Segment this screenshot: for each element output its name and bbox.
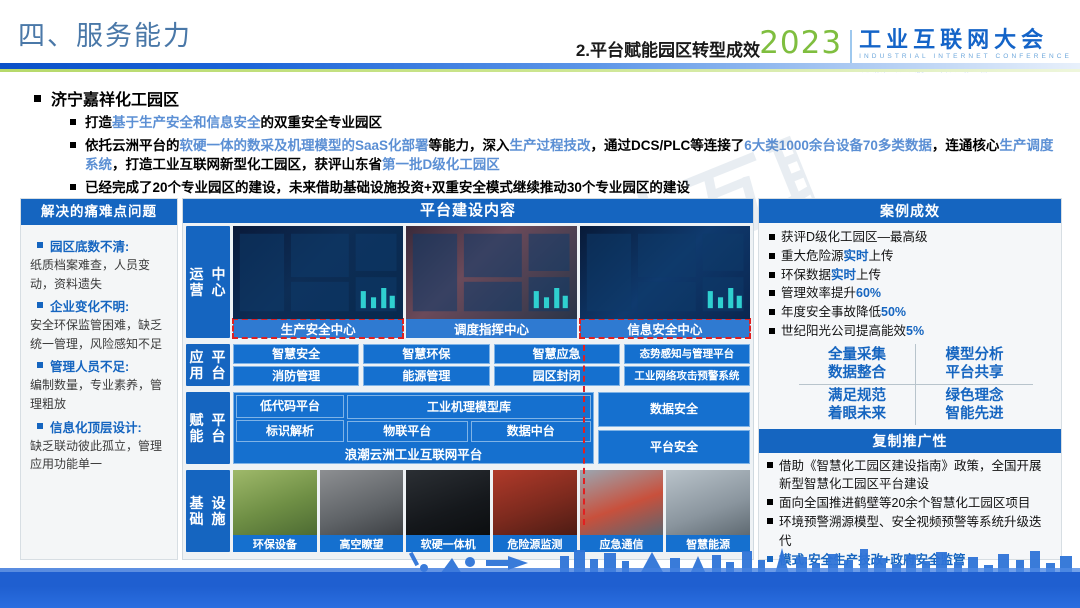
case-effect-text: 世纪阳光公司提高能效5%: [781, 322, 924, 341]
infrastructure-photo: [320, 470, 404, 535]
bullet-fragment: 基于生产安全和信息安全: [112, 115, 261, 130]
enablement-cell[interactable]: 低代码平台: [236, 395, 344, 418]
case-effect-fragment: 年度安全事故降低: [781, 305, 881, 319]
case-effect-fragment: 上传: [869, 249, 894, 263]
operation-center-photo: [233, 226, 403, 319]
pain-point-body: 缺乏联动彼此孤立，管理应用功能单一: [30, 437, 168, 474]
pain-point-heading: 企业变化不明:: [30, 296, 168, 315]
bullet-block: 济宁嘉祥化工园区 打造基于生产安全和信息安全的双重安全专业园区 依托云洲平台的软…: [34, 86, 1064, 197]
case-effect-item: 获评D级化工园区—最高级: [769, 228, 1053, 247]
keyword-line: 满足规范: [799, 387, 915, 405]
row-label-line: 平台: [208, 349, 230, 381]
infrastructure-row: 基础设施 环保设备高空瞭望软硬一体机危险源监测应急通信智慧能源: [183, 467, 753, 555]
enablement-left-box: 低代码平台 标识解析 工业机理模型库 物联平台 数据中台 浪潮云洲工业互联网平台: [233, 392, 594, 464]
enablement-cell[interactable]: 数据中台: [471, 421, 592, 443]
infrastructure-card[interactable]: 智慧能源: [666, 470, 750, 552]
pain-point-heading-text: 企业变化不明:: [50, 296, 129, 315]
case-effect-text: 重大危险源实时上传: [781, 247, 894, 266]
bullet-square-icon: [769, 272, 775, 278]
enablement-bottom-bar: 浪潮云洲工业互联网平台: [234, 444, 593, 463]
bullet-level2: 已经完成了20个专业园区的建设，未来借助基础设施投资+双重安全模式继续推动30个…: [70, 178, 1064, 198]
bullet-square-icon: [70, 119, 76, 125]
enablement-cell[interactable]: 标识解析: [236, 420, 344, 443]
page-subtitle: 2.平台赋能园区转型成效: [576, 36, 760, 61]
case-effect-fragment: 重大危险源: [781, 249, 844, 263]
operation-center-caption: 信息安全中心: [580, 319, 750, 338]
case-effect-list: 获评D级化工园区—最高级重大危险源实时上传环保数据实时上传管理效率提升60%年度…: [759, 223, 1061, 341]
application-platform-label: 应用平台: [186, 344, 230, 386]
case-effect-fragment: 50%: [881, 305, 906, 319]
infrastructure-card[interactable]: 高空瞭望: [320, 470, 404, 552]
case-effect-fragment: 获评D级化工园区—最高级: [781, 230, 928, 244]
case-effect-text: 获评D级化工园区—最高级: [781, 228, 928, 247]
bullet-fragment: 依托云洲平台的: [85, 138, 180, 153]
slide-root: 四、服务能力 2.平台赋能园区转型成效 2023 中国·苏州 8月14日-16日…: [0, 0, 1080, 608]
bullet-level2-text: 已经完成了20个专业园区的建设，未来借助基础设施投资+双重安全模式继续推动30个…: [85, 178, 690, 198]
pain-point-body: 纸质档案难查，人员变动，资料遗失: [30, 256, 168, 293]
enablement-cell-platform-security[interactable]: 平台安全: [598, 430, 750, 465]
enablement-top-row: 低代码平台 标识解析 工业机理模型库 物联平台 数据中台: [234, 393, 593, 444]
keyword-cell: 绿色理念智能先进: [916, 385, 1033, 425]
case-effect-fragment: 环保数据: [781, 268, 831, 282]
bullet-level2-text: 依托云洲平台的软硬一体的数采及机理模型的SaaS化部署等能力，深入生产过程技改，…: [85, 136, 1064, 175]
promotion-item: 借助《智慧化工园区建设指南》政策，全国开展新型智慧化工园区平台建设: [767, 457, 1053, 493]
infrastructure-card[interactable]: 应急通信: [580, 470, 664, 552]
case-effect-fragment: 60%: [856, 286, 881, 300]
enablement-platform-wrap: 低代码平台 标识解析 工业机理模型库 物联平台 数据中台 浪潮云洲工业互联网平台: [233, 392, 750, 464]
bullet-level1: 济宁嘉祥化工园区: [34, 86, 1064, 110]
bullet-square-icon: [70, 142, 76, 148]
bullet-fragment: 6大类1000余台设备70多类数据: [744, 138, 932, 153]
footer-band: [0, 572, 1080, 608]
infrastructure-cards: 环保设备高空瞭望软硬一体机危险源监测应急通信智慧能源: [233, 470, 750, 552]
bullet-fragment: ，通过DCS/PLC等连接了: [591, 138, 745, 153]
promotion-item: 面向全国推进鹤壁等20余个智慧化工园区项目: [767, 494, 1053, 512]
operation-center-photo: [580, 226, 750, 319]
enablement-cell-model-library[interactable]: 工业机理模型库: [347, 395, 591, 419]
keyword-line: 模型分析: [916, 346, 1033, 364]
bullet-square-icon: [767, 499, 773, 505]
application-cell[interactable]: 园区封闭: [494, 366, 620, 386]
bullet-fragment: 已经完成了20个专业园区的建设，未来借助基础设施投资+双重安全模式继续推动30个…: [85, 180, 690, 195]
case-effect-item: 环保数据实时上传: [769, 266, 1053, 285]
infrastructure-card[interactable]: 软硬一体机: [406, 470, 490, 552]
bullet-square-icon: [34, 95, 41, 102]
bullet-square-icon: [769, 309, 775, 315]
platform-content-title: 平台建设内容: [183, 199, 753, 223]
case-effect-text: 环保数据实时上传: [781, 266, 881, 285]
bullet-square-icon: [37, 302, 43, 308]
row-label-line: 基础: [186, 495, 208, 527]
promotion-text: 环境预警溯源模型、安全视频预警等系统升级迭代: [779, 513, 1053, 549]
case-effect-text: 管理效率提升60%: [781, 284, 881, 303]
bullet-fragment: 生产过程技改: [510, 138, 591, 153]
operation-center-caption: 调度指挥中心: [406, 319, 576, 338]
bullet-level2: 打造基于生产安全和信息安全的双重安全专业园区: [70, 113, 1064, 133]
application-column: 智慧应急园区封闭: [494, 344, 620, 386]
enablement-mid-bottom: 物联平台 数据中台: [347, 421, 591, 443]
bullet-square-icon: [37, 242, 43, 248]
keyword-line: 数据整合: [799, 364, 915, 382]
operation-center-card[interactable]: 调度指挥中心: [406, 226, 576, 338]
pain-points-panel: 解决的痛难点问题 园区底数不清:纸质档案难查，人员变动，资料遗失企业变化不明:安…: [20, 198, 178, 560]
header-rule-green: [0, 69, 1080, 72]
application-column: 智慧环保能源管理: [363, 344, 489, 386]
application-platform-grid: 智慧安全消防管理智慧环保能源管理智慧应急园区封闭态势感知与管理平台工业网络攻击预…: [233, 344, 750, 386]
pain-point-heading-text: 信息化顶层设计:: [50, 417, 142, 436]
operation-center-caption: 生产安全中心: [233, 319, 403, 338]
page-title: 四、服务能力: [18, 14, 192, 53]
enablement-cell-data-security[interactable]: 数据安全: [598, 392, 750, 427]
row-label-line: 设施: [208, 495, 230, 527]
keyword-cell: 模型分析平台共享: [916, 344, 1033, 385]
enablement-left-col: 低代码平台 标识解析: [236, 395, 344, 442]
operation-center-card[interactable]: 生产安全中心: [233, 226, 403, 338]
pain-point-heading-text: 园区底数不清:: [50, 236, 129, 255]
bullet-square-icon: [769, 328, 775, 334]
infrastructure-photo: [580, 470, 664, 535]
pain-point-heading: 管理人员不足:: [30, 356, 168, 375]
case-effect-fragment: 管理效率提升: [781, 286, 856, 300]
application-column: 智慧安全消防管理: [233, 344, 359, 386]
operation-center-row: 运营中心 生产安全中心调度指挥中心信息安全中心: [183, 223, 753, 341]
bullet-square-icon: [769, 234, 775, 240]
pain-point-heading: 园区底数不清:: [30, 236, 168, 255]
pain-point-body: 编制数量，专业素养，管理粗放: [30, 376, 168, 413]
pain-points-title: 解决的痛难点问题: [21, 199, 177, 225]
row-label-line: 中心: [208, 266, 230, 298]
application-cell[interactable]: 态势感知与管理平台: [624, 344, 750, 364]
keyword-line: 着眼未来: [799, 405, 915, 423]
application-cell[interactable]: 消防管理: [233, 366, 359, 386]
case-effect-text: 年度安全事故降低50%: [781, 303, 906, 322]
case-effect-item: 世纪阳光公司提高能效5%: [769, 322, 1053, 341]
case-effect-item: 管理效率提升60%: [769, 284, 1053, 303]
bullet-square-icon: [767, 518, 773, 524]
case-effect-panel: 案例成效 获评D级化工园区—最高级重大危险源实时上传环保数据实时上传管理效率提升…: [758, 198, 1062, 560]
case-effect-title: 案例成效: [759, 199, 1061, 223]
case-effect-fragment: 实时: [844, 249, 869, 263]
promotion-text: 借助《智慧化工园区建设指南》政策，全国开展新型智慧化工园区平台建设: [779, 457, 1053, 493]
case-effect-fragment: 5%: [906, 324, 924, 338]
case-effect-item: 重大危险源实时上传: [769, 247, 1053, 266]
application-platform-row: 应用平台 智慧安全消防管理智慧环保能源管理智慧应急园区封闭态势感知与管理平台工业…: [183, 341, 753, 389]
bullet-square-icon: [767, 462, 773, 468]
bullet-level1-text: 济宁嘉祥化工园区: [51, 86, 179, 110]
infrastructure-photo: [493, 470, 577, 535]
infrastructure-photo: [233, 470, 317, 535]
bullet-fragment: 的双重安全专业园区: [261, 115, 383, 130]
promotion-text: 面向全国推进鹤壁等20余个智慧化工园区项目: [779, 494, 1030, 512]
pain-points-list: 园区底数不清:纸质档案难查，人员变动，资料遗失企业变化不明:安全环保监管困难，缺…: [21, 225, 177, 474]
enablement-platform-label: 赋能平台: [186, 392, 230, 464]
infrastructure-card[interactable]: 危险源监测: [493, 470, 577, 552]
keyword-line: 全量采集: [799, 346, 915, 364]
logo-year: 2023: [759, 28, 842, 59]
enablement-cell[interactable]: 物联平台: [347, 421, 468, 443]
bullet-square-icon: [769, 253, 775, 259]
application-column: 态势感知与管理平台工业网络攻击预警系统: [624, 344, 750, 386]
logo-conference-cn: 工业互联网大会: [859, 28, 1072, 51]
bullet-fragment: ，连通核心: [932, 138, 1000, 153]
keyword-cell: 满足规范着眼未来: [799, 385, 916, 425]
promotion-item: 环境预警溯源模型、安全视频预警等系统升级迭代: [767, 513, 1053, 549]
platform-content-panel: 平台建设内容 运营中心 生产安全中心调度指挥中心信息安全中心 应用平台 智慧安全…: [182, 198, 754, 560]
enablement-platform-row: 赋能平台 低代码平台 标识解析 工业机理模型库 物联平台 数据中台: [183, 389, 753, 467]
pain-point-body: 安全环保监管困难，缺乏统一管理，风险感知不足: [30, 316, 168, 353]
bullet-fragment: ，打造工业互联网新型化工园区，获评山东省: [112, 157, 382, 172]
application-cell[interactable]: 智慧安全: [233, 344, 359, 364]
logo-conference-en: INDUSTRIAL INTERNET CONFERENCE: [859, 53, 1072, 60]
bullet-fragment: 等能力，深入: [429, 138, 510, 153]
case-effect-fragment: 世纪阳光公司提高能效: [781, 324, 906, 338]
enablement-right-col: 数据安全 平台安全: [598, 392, 750, 464]
application-cell[interactable]: 能源管理: [363, 366, 489, 386]
bullet-square-icon: [37, 362, 43, 368]
enablement-mid-col: 工业机理模型库 物联平台 数据中台: [347, 395, 591, 442]
keyword-line: 平台共享: [916, 364, 1033, 382]
application-cell[interactable]: 智慧环保: [363, 344, 489, 364]
case-effect-item: 年度安全事故降低50%: [769, 303, 1053, 322]
bullet-level2: 依托云洲平台的软硬一体的数采及机理模型的SaaS化部署等能力，深入生产过程技改，…: [70, 136, 1064, 175]
pain-point-heading-text: 管理人员不足:: [50, 356, 129, 375]
row-label-line: 应用: [186, 349, 208, 381]
bullet-square-icon: [37, 423, 43, 429]
keyword-grid: 全量采集数据整合模型分析平台共享满足规范着眼未来绿色理念智能先进: [799, 344, 1033, 426]
case-effect-fragment: 实时: [831, 268, 856, 282]
keyword-line: 智能先进: [916, 405, 1033, 423]
keyword-line: 绿色理念: [916, 387, 1033, 405]
row-label-line: 运营: [186, 266, 208, 298]
security-boundary-divider: [583, 345, 585, 525]
infrastructure-label: 基础设施: [186, 470, 230, 552]
promotion-title: 复制推广性: [759, 429, 1061, 453]
operation-center-label: 运营中心: [186, 226, 230, 338]
pain-point-heading: 信息化顶层设计:: [30, 417, 168, 436]
bullet-fragment: 第一批D级化工园区: [382, 157, 500, 172]
infrastructure-photo: [406, 470, 490, 535]
application-cell[interactable]: 工业网络攻击预警系统: [624, 366, 750, 386]
infrastructure-card[interactable]: 环保设备: [233, 470, 317, 552]
row-label-line: 平台: [208, 412, 230, 444]
operation-center-cards: 生产安全中心调度指挥中心信息安全中心: [233, 226, 750, 338]
operation-center-photo: [406, 226, 576, 319]
application-cell[interactable]: 智慧应急: [494, 344, 620, 364]
infrastructure-photo: [666, 470, 750, 535]
operation-center-card[interactable]: 信息安全中心: [580, 226, 750, 338]
bullet-level2-text: 打造基于生产安全和信息安全的双重安全专业园区: [85, 113, 382, 133]
row-label-line: 赋能: [186, 412, 208, 444]
keyword-cell: 全量采集数据整合: [799, 344, 916, 385]
bullet-square-icon: [70, 184, 76, 190]
bullet-fragment: 打造: [85, 115, 112, 130]
bullet-square-icon: [769, 290, 775, 296]
case-effect-fragment: 上传: [856, 268, 881, 282]
bullet-fragment: 软硬一体的数采及机理模型的SaaS化部署: [180, 138, 429, 153]
